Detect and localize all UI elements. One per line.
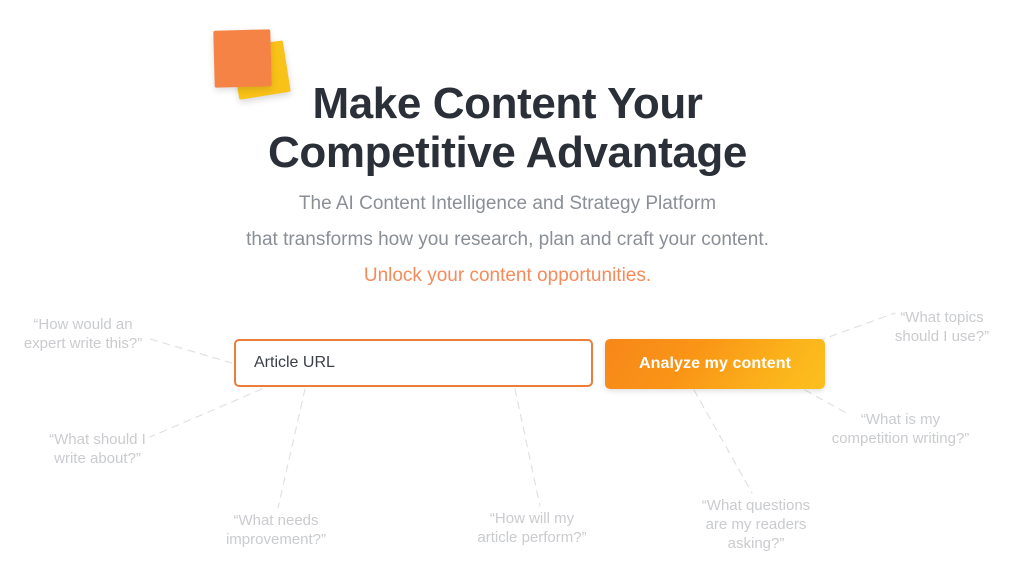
headline-line-1: Make Content Your — [0, 79, 1015, 128]
page-subtitle: The AI Content Intelligence and Strategy… — [0, 186, 1015, 294]
annotation-questions: “What questions are my readers asking?” — [676, 496, 836, 553]
analyze-my-content-button[interactable]: Analyze my content — [605, 339, 825, 389]
annotation-write-about: “What should I write about?” — [25, 430, 170, 468]
subtitle-line-1: The AI Content Intelligence and Strategy… — [0, 186, 1015, 222]
hero-section: Make Content Your Competitive Advantage … — [0, 0, 1015, 581]
subtitle-accent-line: Unlock your content opportunities. — [0, 258, 1015, 294]
headline-line-2: Competitive Advantage — [0, 128, 1015, 177]
connector-improvement — [278, 389, 305, 508]
annotation-expert: “How would an expert write this?” — [8, 315, 158, 353]
connector-questions — [694, 390, 752, 493]
article-url-input[interactable] — [234, 339, 593, 387]
page-title: Make Content Your Competitive Advantage — [0, 79, 1015, 177]
connector-perform — [515, 389, 540, 506]
connector-expert — [150, 339, 232, 363]
subtitle-line-2: that transforms how you research, plan a… — [0, 222, 1015, 258]
analyze-form: Analyze my content — [234, 339, 825, 387]
annotation-perform: “How will my article perform?” — [452, 509, 612, 547]
annotation-improvement: “What needs improvement?” — [196, 511, 356, 549]
annotation-topics: “What topics should I use?” — [872, 308, 1012, 346]
annotation-competition: “What is my competition writing?” — [818, 410, 983, 448]
